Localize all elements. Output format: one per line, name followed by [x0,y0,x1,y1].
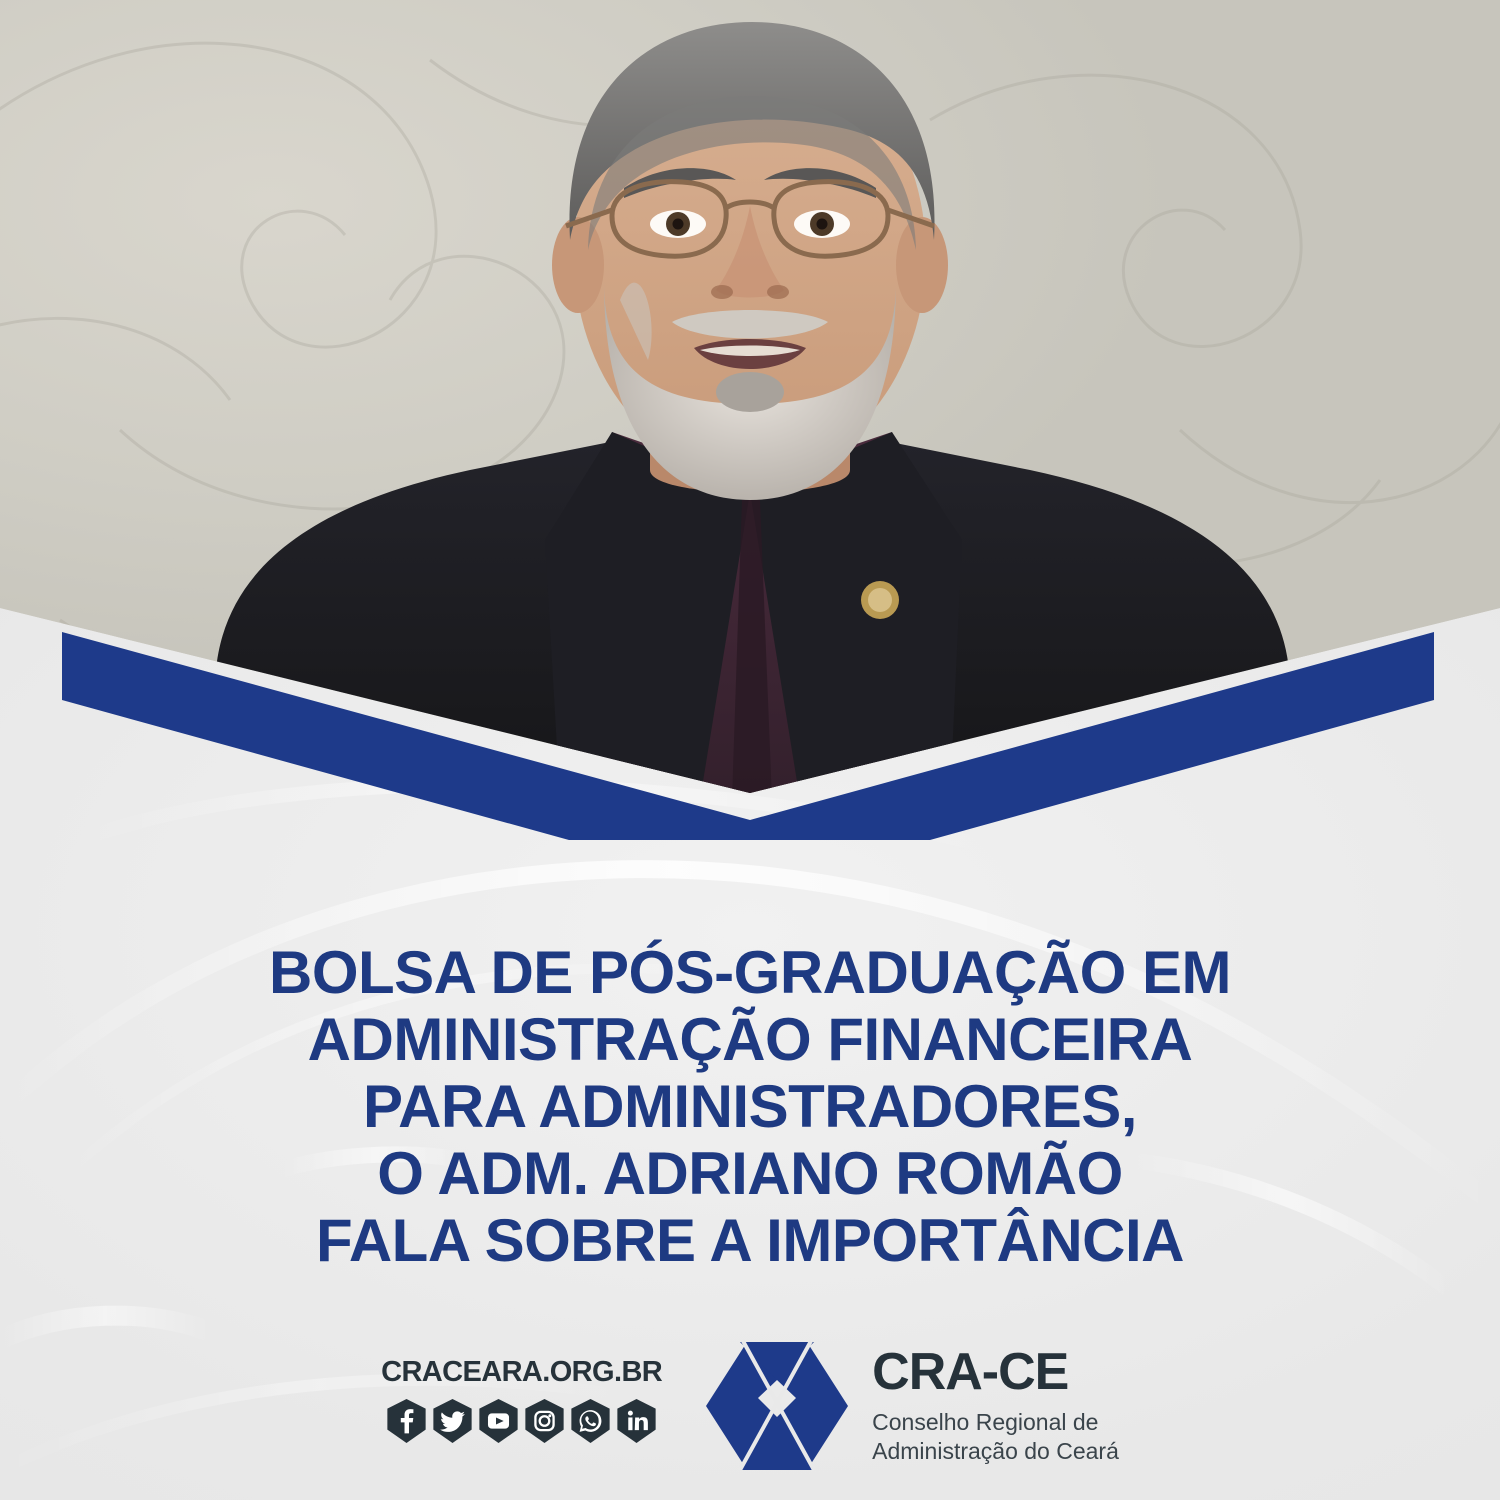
blue-chevron-band [0,600,1500,840]
facebook-icon[interactable] [387,1399,426,1443]
page-title: BOLSA DE PÓS-GRADUAÇÃO EM ADMINISTRAÇÃO … [0,940,1500,1274]
logo-title: CRA-CE [872,1346,1119,1398]
youtube-icon[interactable] [479,1399,518,1443]
logo-subtitle-line-2: Administração do Ceará [872,1437,1119,1466]
headline-line-4: O ADM. ADRIANO ROMÃO [0,1141,1500,1208]
headline-line-3: PARA ADMINISTRADORES, [0,1074,1500,1141]
headline-line-1: BOLSA DE PÓS-GRADUAÇÃO EM [0,940,1500,1007]
logo-subtitle: Conselho Regional de Administração do Ce… [872,1408,1119,1467]
footer: CRACEARA.ORG.BR [0,1330,1500,1490]
headline-line-2: ADMINISTRAÇÃO FINANCEIRA [0,1007,1500,1074]
social-links [387,1399,656,1443]
website-url[interactable]: CRACEARA.ORG.BR [381,1356,662,1389]
linkedin-icon[interactable] [617,1399,656,1443]
headline-line-5: FALA SOBRE A IMPORTÂNCIA [0,1208,1500,1275]
site-and-socials: CRACEARA.ORG.BR [381,1330,662,1443]
cra-ce-logo[interactable]: CRA-CE Conselho Regional de Administraçã… [702,1330,1119,1476]
twitter-icon[interactable] [433,1399,472,1443]
logo-subtitle-line-1: Conselho Regional de [872,1408,1119,1437]
cra-ce-logo-text: CRA-CE Conselho Regional de Administraçã… [872,1346,1119,1467]
whatsapp-icon[interactable] [571,1399,610,1443]
instagram-icon[interactable] [525,1399,564,1443]
cra-ce-logo-mark [702,1336,852,1476]
poster-canvas: BOLSA DE PÓS-GRADUAÇÃO EM ADMINISTRAÇÃO … [0,0,1500,1500]
